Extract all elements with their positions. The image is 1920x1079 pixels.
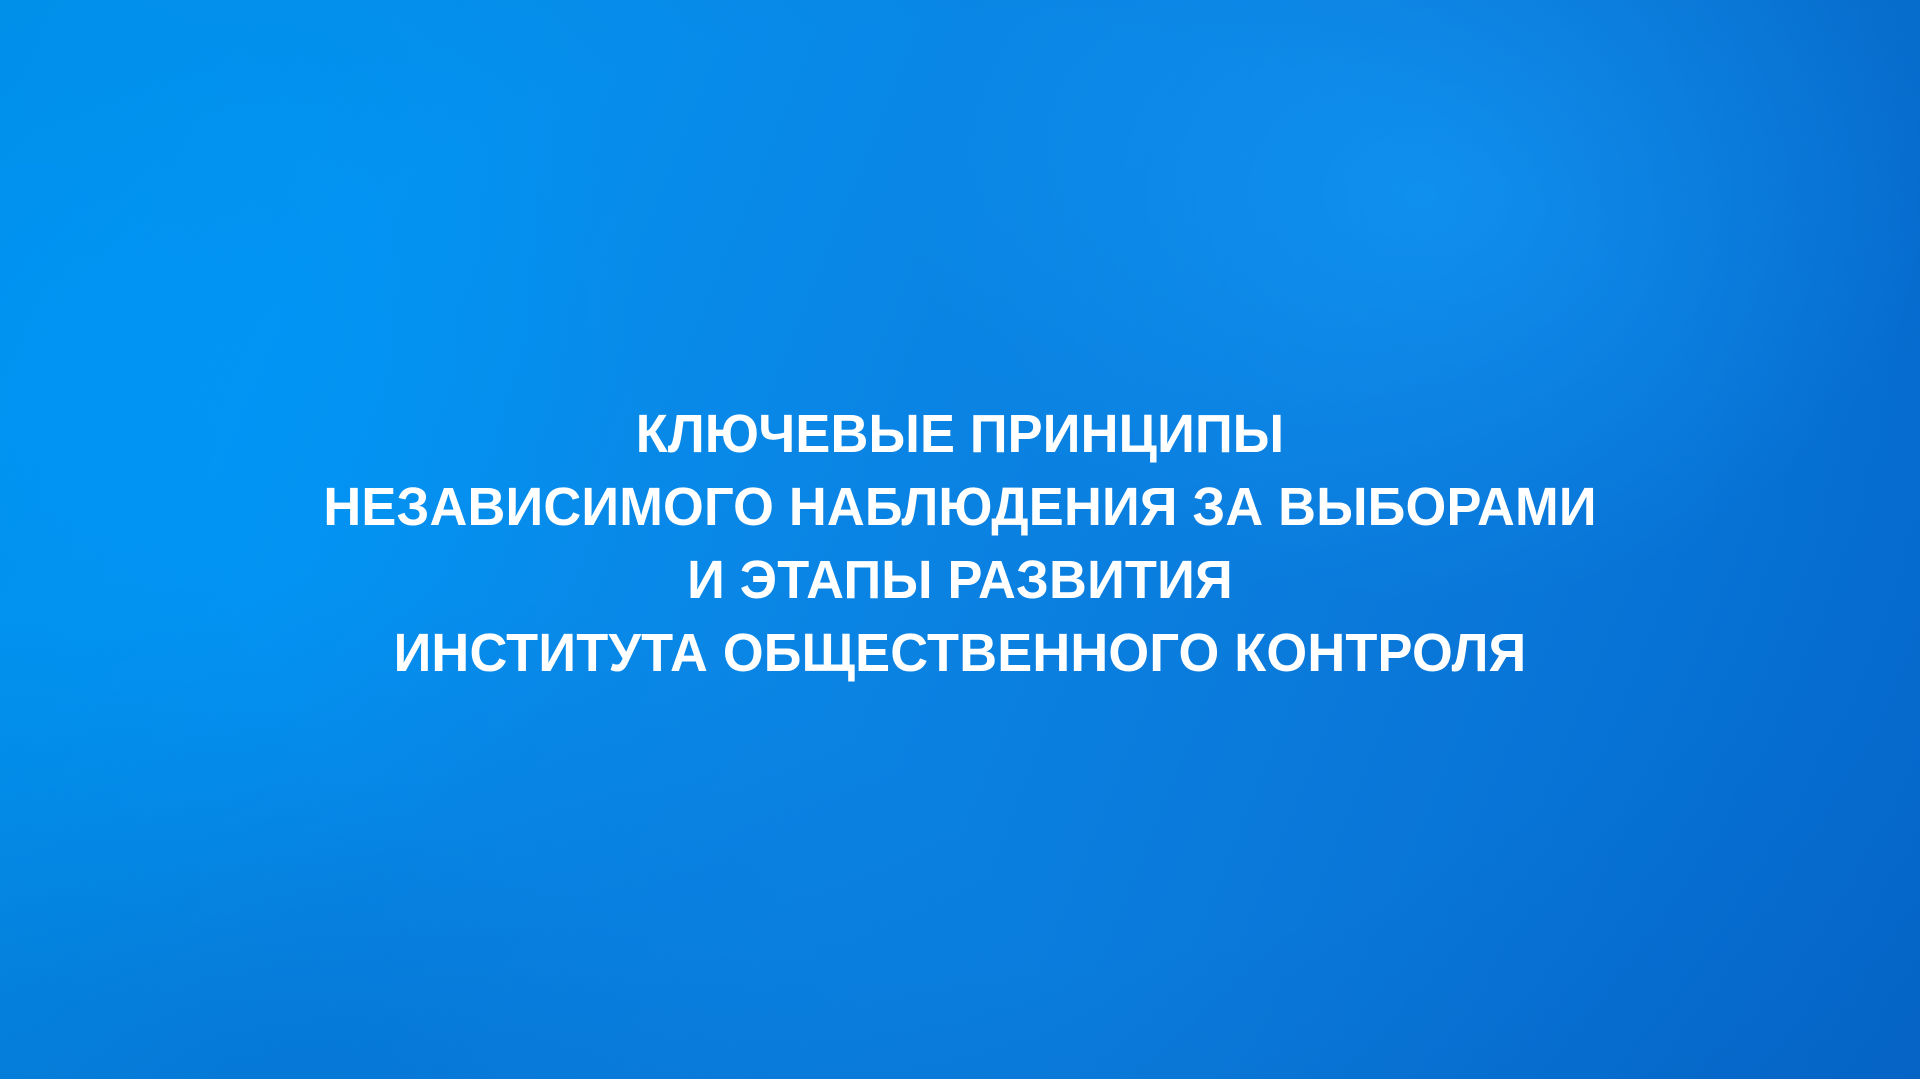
title-line-4: ИНСТИТУТА ОБЩЕСТВЕННОГО КОНТРОЛЯ — [29, 617, 1891, 690]
title-line-1: КЛЮЧЕВЫЕ ПРИНЦИПЫ — [29, 398, 1891, 471]
title-slide: КЛЮЧЕВЫЕ ПРИНЦИПЫ НЕЗАВИСИМОГО НАБЛЮДЕНИ… — [0, 0, 1920, 1079]
title-line-2: НЕЗАВИСИМОГО НАБЛЮДЕНИЯ ЗА ВЫБОРАМИ — [29, 471, 1891, 544]
title-line-3: И ЭТАПЫ РАЗВИТИЯ — [29, 544, 1891, 617]
slide-title: КЛЮЧЕВЫЕ ПРИНЦИПЫ НЕЗАВИСИМОГО НАБЛЮДЕНИ… — [0, 398, 1920, 690]
